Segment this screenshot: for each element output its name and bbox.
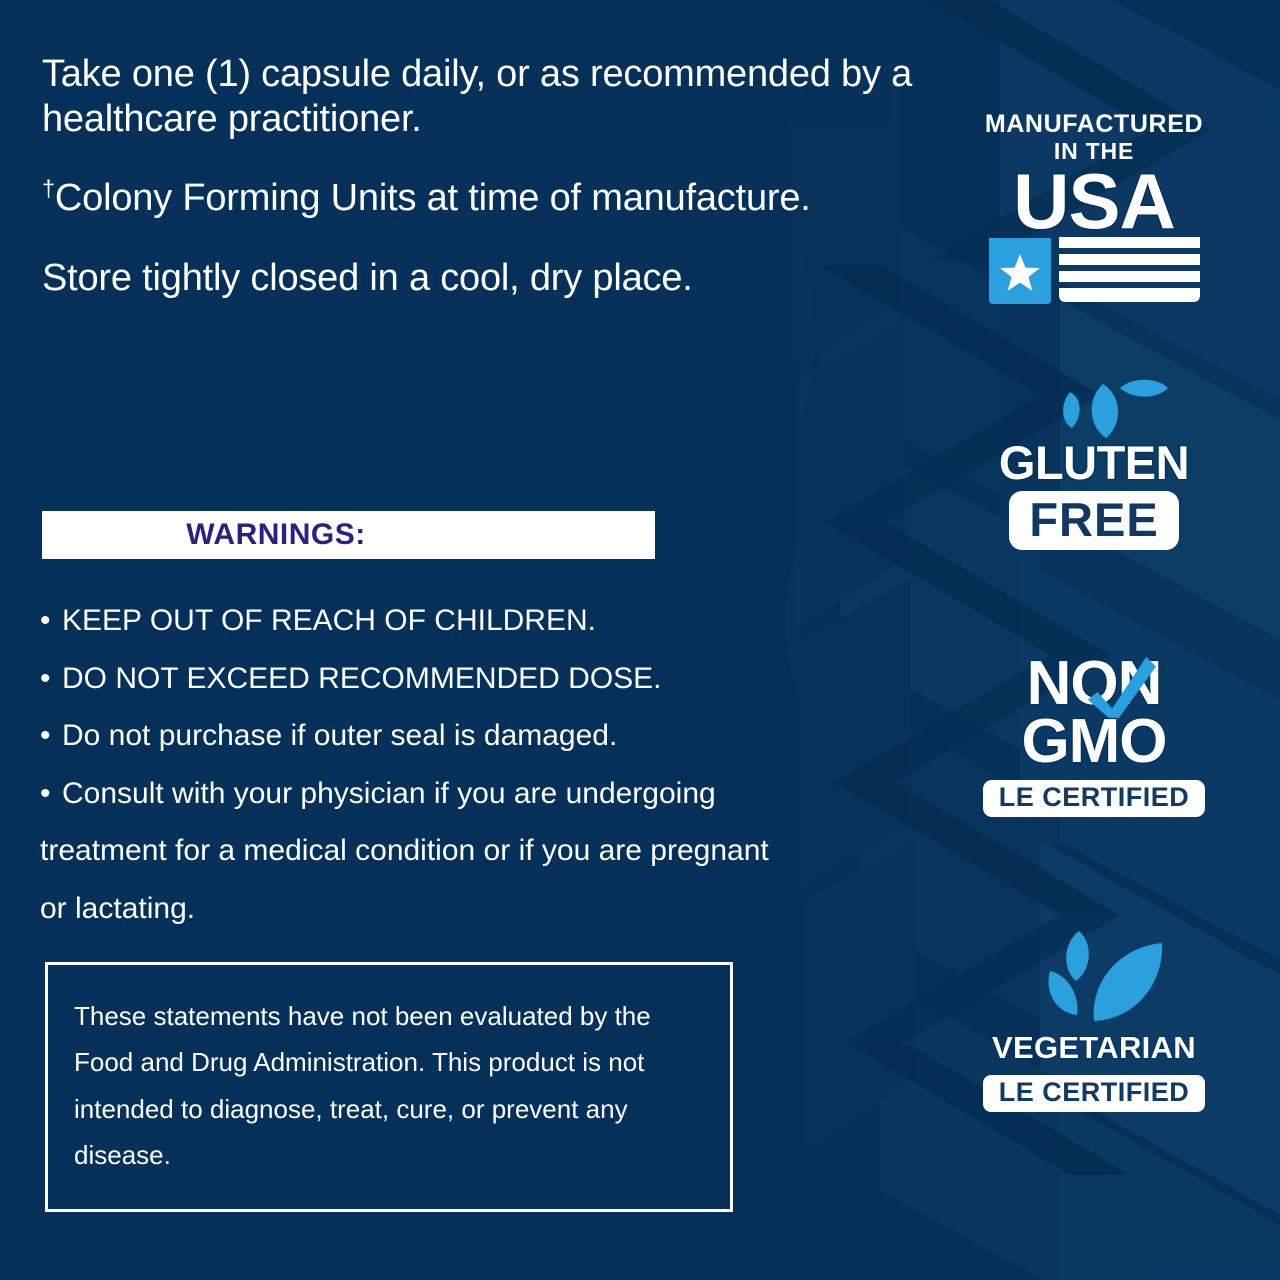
three-leaves-icon xyxy=(960,925,1228,1030)
fda-disclaimer-box: These statements have not been evaluated… xyxy=(45,962,733,1212)
badge-gmo-pill: LE CERTIFIED xyxy=(983,780,1206,817)
badge-gmo-line3: LE CERTIFIED xyxy=(999,782,1190,812)
warnings-heading-label: WARNINGS: xyxy=(186,518,366,552)
warnings-list-items: •KEEP OUT OF REACH OF CHILDREN. •DO NOT … xyxy=(40,592,800,938)
badge-gluten-pill: FREE xyxy=(1009,491,1178,550)
badge-gluten-line2: FREE xyxy=(1029,493,1158,546)
dosage-directions: Take one (1) capsule daily, or as recomm… xyxy=(42,52,932,142)
dagger-symbol: † xyxy=(42,176,55,202)
list-item: •KEEP OUT OF REACH OF CHILDREN. xyxy=(40,592,800,650)
bullet-icon: • xyxy=(40,650,62,708)
badge-gluten-line1: GLUTEN xyxy=(960,438,1228,487)
cfu-footnote-text: Colony Forming Units at time of manufact… xyxy=(55,177,811,219)
badge-veg-pill: LE CERTIFIED xyxy=(983,1075,1206,1112)
badge-usa-line3: USA xyxy=(960,166,1228,238)
badge-non-gmo: NON GMO LE CERTIFIED xyxy=(960,655,1228,817)
list-item: •Do not purchase if outer seal is damage… xyxy=(40,707,800,765)
badge-veg-line1: VEGETARIAN xyxy=(960,1030,1228,1066)
cfu-footnote: †Colony Forming Units at time of manufac… xyxy=(42,176,932,221)
badge-gluten-free: GLUTEN FREE xyxy=(960,376,1228,550)
bullet-icon: • xyxy=(40,765,62,823)
bullet-icon: • xyxy=(40,592,62,650)
list-item-label: Do not purchase if outer seal is damaged… xyxy=(62,719,617,752)
list-item: •DO NOT EXCEED RECOMMENDED DOSE. xyxy=(40,650,800,708)
three-leaves-icon xyxy=(960,376,1228,438)
list-item-label: KEEP OUT OF REACH OF CHILDREN. xyxy=(62,604,596,637)
certification-badge-column: MANUFACTURED IN THE USA xyxy=(960,0,1228,1280)
us-flag-icon xyxy=(987,234,1202,306)
directions-column: Take one (1) capsule daily, or as recomm… xyxy=(42,52,932,335)
warnings-list: •KEEP OUT OF REACH OF CHILDREN. •DO NOT … xyxy=(40,592,800,938)
list-item-label: DO NOT EXCEED RECOMMENDED DOSE. xyxy=(62,662,662,695)
badge-vegetarian: VEGETARIAN LE CERTIFIED xyxy=(960,925,1228,1112)
bullet-icon: • xyxy=(40,707,62,765)
badge-usa-line1: MANUFACTURED xyxy=(960,112,1228,137)
storage-instructions: Store tightly closed in a cool, dry plac… xyxy=(42,256,932,301)
list-item-label: Consult with your physician if you are u… xyxy=(40,777,777,925)
fda-disclaimer-text: These statements have not been evaluated… xyxy=(48,965,730,1178)
badge-veg-line2: LE CERTIFIED xyxy=(999,1077,1190,1107)
list-item: •Consult with your physician if you are … xyxy=(40,765,800,938)
warnings-heading-bar: WARNINGS: xyxy=(42,511,655,559)
badge-manufactured-in-usa: MANUFACTURED IN THE USA xyxy=(960,112,1228,306)
badge-gmo-line2: GMO xyxy=(960,713,1228,771)
